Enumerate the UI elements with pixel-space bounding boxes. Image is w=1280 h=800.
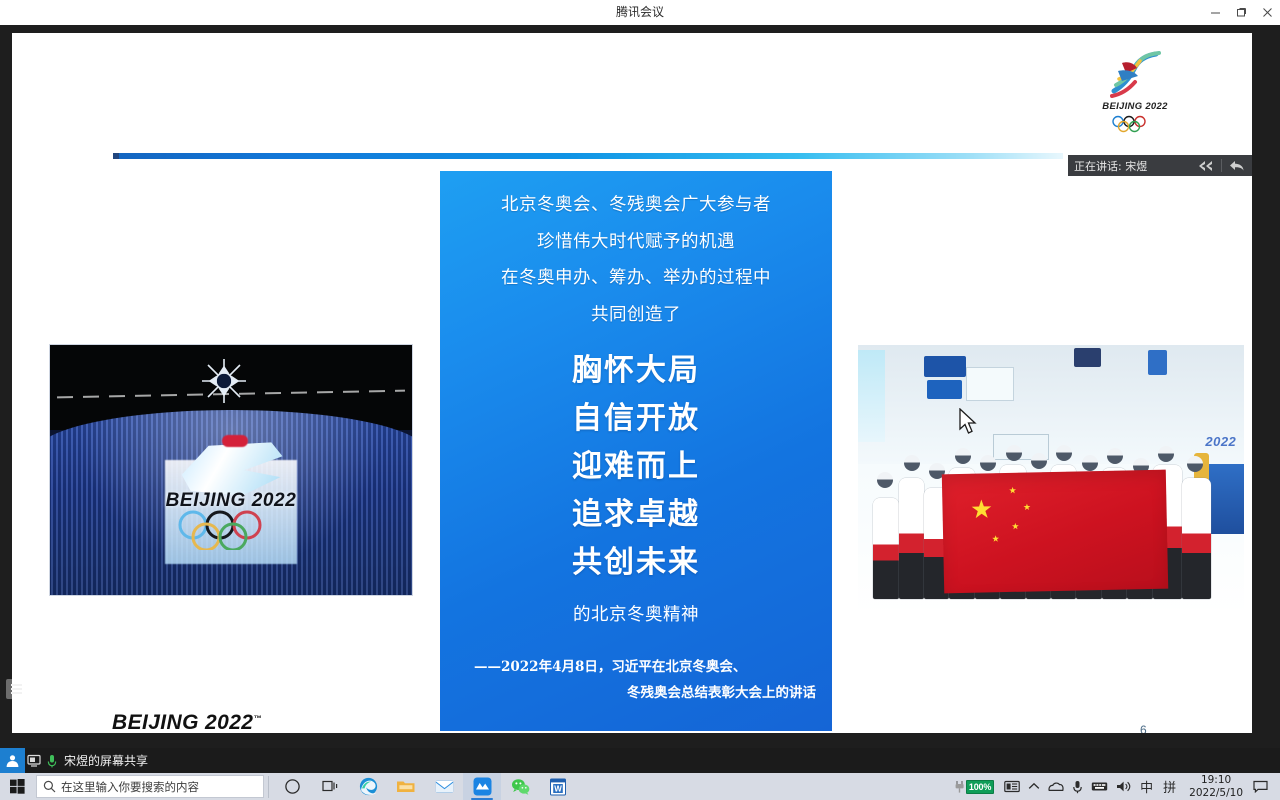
- flag-small-star-icon: [992, 535, 999, 542]
- power-plug-icon: [953, 780, 966, 794]
- taskbar-divider: [268, 776, 269, 798]
- photo-person: [873, 498, 898, 598]
- slogan-2: 自信开放: [440, 395, 832, 443]
- chinese-flag: [942, 470, 1168, 593]
- flag-large-star-icon: [971, 499, 991, 519]
- slogan-5: 共创未来: [440, 539, 832, 587]
- photo-person-head: [1006, 445, 1022, 461]
- return-arrow-icon[interactable]: [1222, 155, 1252, 176]
- wechat-icon[interactable]: [501, 773, 539, 800]
- mouse-cursor: [958, 408, 978, 436]
- panel-attribution: ——2022年4月8日，习近平在北京冬奥会、 冬残奥会总结表彰大会上的讲话: [440, 654, 832, 706]
- panel-slogan-block: 胸怀大局 自信开放 迎难而上 追求卓越 共创未来: [440, 347, 832, 587]
- tencent-meeting-icon[interactable]: [0, 748, 25, 773]
- photo-person-head: [1158, 446, 1174, 462]
- screen: 腾讯会议: [0, 0, 1280, 800]
- clock-time: 19:10: [1189, 774, 1243, 787]
- slide-number: 6: [1140, 723, 1147, 733]
- attribution-line-1: ——2022年4月8日，习近平在北京冬奥会、: [474, 659, 746, 675]
- screen-share-icon[interactable]: [25, 748, 43, 773]
- slide-accent-rule: [113, 153, 1063, 159]
- trademark-symbol: ™: [253, 714, 261, 723]
- keyboard-icon[interactable]: [1087, 773, 1112, 800]
- ime-language-mode[interactable]: 中: [1135, 777, 1158, 796]
- photo-person-head: [1031, 453, 1047, 469]
- windows-taskbar: 在这里输入你要搜索的内容: [0, 773, 1280, 800]
- microphone-tray-icon[interactable]: [1068, 773, 1087, 800]
- show-desktop-button[interactable]: [1276, 773, 1280, 800]
- flag-small-star-icon: [1009, 487, 1016, 494]
- ime-pinyin-mode[interactable]: 拼: [1158, 777, 1181, 796]
- taskbar-app-icons: W: [273, 773, 577, 800]
- window-title: 腾讯会议: [0, 0, 1280, 25]
- screen-share-label: 宋煜的屏幕共享: [61, 752, 148, 769]
- slideshow-menu-button[interactable]: [6, 679, 26, 699]
- window-controls: [1202, 0, 1280, 25]
- restore-button[interactable]: [1228, 0, 1254, 25]
- beijing-2022-emblem: BEIJING 2022: [1096, 51, 1174, 135]
- flag-small-star-icon: [1012, 523, 1019, 530]
- shared-screen-area: BEIJING 2022: [0, 25, 1280, 748]
- presentation-slide[interactable]: BEIJING 2022: [12, 33, 1252, 733]
- show-hidden-icons-chevron-up-icon[interactable]: [1024, 773, 1044, 800]
- photo-person: [1182, 478, 1211, 599]
- task-view-icon[interactable]: [311, 773, 349, 800]
- search-icon: [37, 780, 61, 793]
- clock-date: 2022/5/10: [1189, 787, 1243, 800]
- panel-lead-block: 北京冬奥会、冬残奥会广大参与者 珍惜伟大时代赋予的机遇 在冬奥申办、筹办、举办的…: [440, 171, 832, 333]
- emblem-wordmark: BEIJING 2022: [1096, 101, 1174, 112]
- photo-blue-sign-1: [924, 356, 966, 378]
- slogan-4: 追求卓越: [440, 491, 832, 539]
- microsoft-edge-icon[interactable]: [349, 773, 387, 800]
- slide-accent-rule-cap: [113, 153, 119, 159]
- start-button[interactable]: [0, 773, 34, 800]
- flag-small-star-icon: [1023, 503, 1030, 510]
- photo-white-panel: [966, 367, 1014, 401]
- notifications-icon[interactable]: [1251, 780, 1276, 793]
- photo-person-head: [955, 448, 971, 464]
- panel-lead-line-4: 共同创造了: [440, 297, 832, 334]
- close-button[interactable]: [1254, 0, 1280, 25]
- panel-lead-line-1: 北京冬奥会、冬残奥会广大参与者: [440, 187, 832, 224]
- photo-cyan-banner: [858, 350, 885, 442]
- olympic-rings-icon: [1109, 115, 1161, 133]
- slide-beijing-wordmark-text: BEIJING 2022: [112, 711, 253, 733]
- panel-lead-line-2: 珍惜伟大时代赋予的机遇: [440, 224, 832, 261]
- photo-blue-sign-3: [1074, 348, 1101, 367]
- speaking-label: 正在讲话: 宋煜: [1068, 158, 1191, 174]
- onedrive-cloud-icon[interactable]: [1044, 773, 1068, 800]
- attribution-line-2: 冬残奥会总结表彰大会上的讲话: [474, 680, 816, 706]
- photo-emblem-red-accent: [222, 435, 248, 447]
- snowflake-icon: [198, 355, 250, 407]
- photo-person-head: [904, 455, 920, 471]
- photo-person: [899, 478, 924, 599]
- svg-text:W: W: [554, 784, 562, 793]
- photo-person-head: [1187, 456, 1203, 472]
- slogan-3: 迎难而上: [440, 443, 832, 491]
- search-input[interactable]: 在这里输入你要搜索的内容: [36, 775, 264, 798]
- word-icon[interactable]: W: [539, 773, 577, 800]
- mail-icon[interactable]: [425, 773, 463, 800]
- photo-blue-sign-2: [927, 380, 962, 399]
- photo-person-head: [1082, 455, 1098, 471]
- panel-tail-line: 的北京冬奥精神: [440, 601, 832, 626]
- photo-beijing-wordmark: BEIJING 2022: [50, 490, 412, 512]
- photo-person-head: [1056, 445, 1072, 461]
- clock[interactable]: 19:10 2022/5/10: [1181, 774, 1251, 800]
- volume-icon[interactable]: [1112, 773, 1135, 800]
- minimize-button[interactable]: [1202, 0, 1228, 25]
- microphone-icon[interactable]: [43, 748, 61, 773]
- slogan-1: 胸怀大局: [440, 347, 832, 395]
- window-titlebar[interactable]: 腾讯会议: [0, 0, 1280, 26]
- hamburger-icon: [11, 688, 22, 690]
- olympic-rings-sculpture-icon: [172, 510, 290, 550]
- cortana-icon[interactable]: [273, 773, 311, 800]
- battery-percent: 100%: [966, 780, 994, 794]
- photo-blue-sign-4: [1148, 350, 1167, 374]
- battery-status[interactable]: 100%: [951, 780, 1000, 794]
- tencent-meeting-icon[interactable]: [463, 773, 501, 800]
- photo-person-head: [877, 472, 893, 488]
- quote-panel: 北京冬奥会、冬残奥会广大参与者 珍惜伟大时代赋予的机遇 在冬奥申办、筹办、举办的…: [440, 171, 832, 731]
- double-chevron-icon[interactable]: [1191, 155, 1221, 176]
- panel-lead-line-3: 在冬奥申办、筹办、举办的过程中: [440, 260, 832, 297]
- system-tray: 100%: [951, 773, 1280, 800]
- onedrive-sync-icon[interactable]: [1000, 773, 1024, 800]
- emblem-figure-icon: [1104, 51, 1166, 99]
- photo-person-head: [980, 455, 996, 471]
- photo-person-head: [1107, 448, 1123, 464]
- olympic-opening-ceremony-photo: BEIJING 2022: [50, 345, 412, 595]
- search-placeholder: 在这里输入你要搜索的内容: [61, 779, 199, 795]
- slide-beijing-wordmark: BEIJING 2022™: [112, 711, 262, 733]
- speaking-indicator-overlay[interactable]: 正在讲话: 宋煜: [1068, 155, 1252, 176]
- file-explorer-icon[interactable]: [387, 773, 425, 800]
- screen-share-strip[interactable]: 宋煜的屏幕共享: [0, 748, 1280, 773]
- team-with-chinese-flag-photo: 2022: [858, 345, 1244, 615]
